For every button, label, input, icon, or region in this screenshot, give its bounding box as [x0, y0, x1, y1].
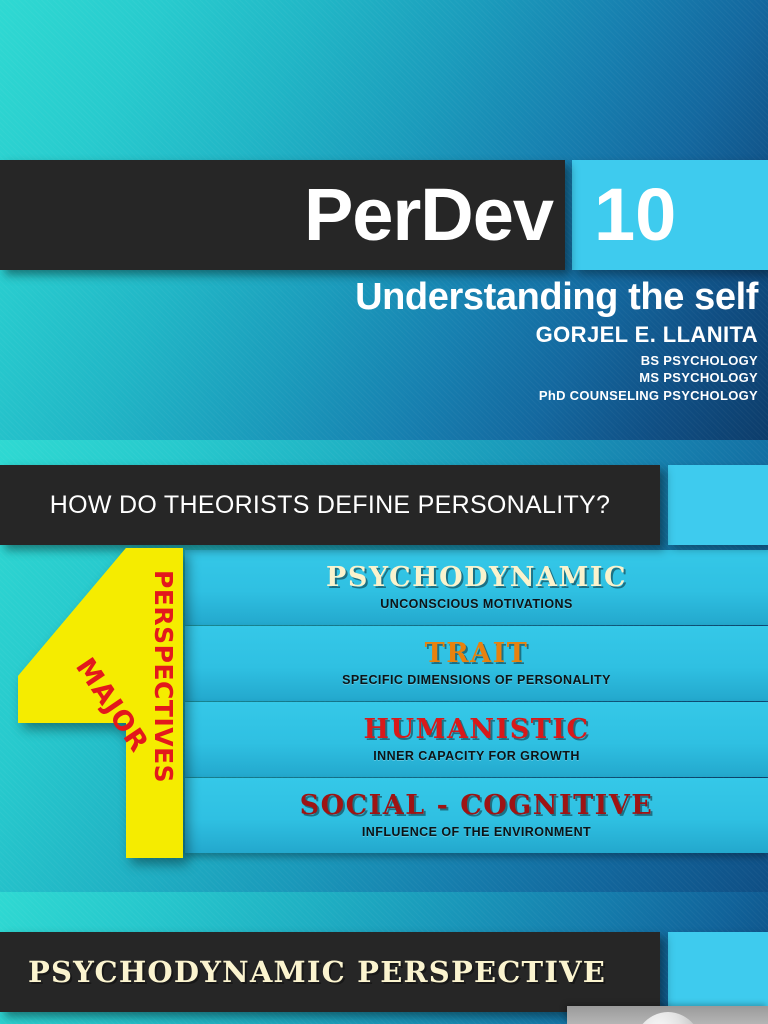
slide-subtitle: Understanding the self: [355, 276, 758, 319]
list-item: TRAIT SPECIFIC DIMENSIONS OF PERSONALITY: [185, 626, 768, 701]
course-number: 10: [594, 178, 676, 252]
big-four-graphic: MAJOR PERSPECTIVES: [18, 548, 218, 858]
question-accent-square: [668, 465, 768, 545]
portrait-head-shape: [631, 1012, 705, 1024]
perspective-subtitle: INNER CAPACITY FOR GROWTH: [373, 749, 580, 763]
numeral-four-icon: MAJOR PERSPECTIVES: [18, 548, 218, 858]
course-number-badge: 10: [572, 160, 768, 270]
question-bar: HOW DO THEORISTS DEFINE PERSONALITY?: [0, 465, 660, 545]
credential-item: BS PSYCHOLOGY: [539, 352, 758, 369]
section-title-bar: PSYCHODYNAMIC PERSPECTIVE: [0, 932, 660, 1012]
title-slide: PerDev 10 Understanding the self GORJEL …: [0, 0, 768, 440]
list-item: HUMANISTIC INNER CAPACITY FOR GROWTH: [185, 702, 768, 777]
perspective-subtitle: INFLUENCE OF THE ENVIRONMENT: [362, 825, 591, 839]
perspective-title: HUMANISTIC: [364, 716, 590, 744]
perspective-title: TRAIT: [425, 640, 529, 668]
list-item: PSYCHODYNAMIC UNCONSCIOUS MOTIVATIONS: [185, 550, 768, 625]
perspectives-slide: HOW DO THEORISTS DEFINE PERSONALITY? PSY…: [0, 440, 768, 892]
list-item: SOCIAL - COGNITIVE INFLUENCE OF THE ENVI…: [185, 778, 768, 853]
author-credentials: BS PSYCHOLOGY MS PSYCHOLOGY PhD COUNSELI…: [539, 352, 758, 404]
perspective-subtitle: UNCONSCIOUS MOTIVATIONS: [380, 597, 573, 611]
perspective-subtitle: SPECIFIC DIMENSIONS OF PERSONALITY: [342, 673, 611, 687]
perspective-title: SOCIAL - COGNITIVE: [300, 792, 654, 820]
section-slide: PSYCHODYNAMIC PERSPECTIVE: [0, 892, 768, 1024]
question-text: HOW DO THEORISTS DEFINE PERSONALITY?: [50, 491, 610, 520]
section-accent-square: [668, 932, 768, 1012]
perspective-title: PSYCHODYNAMIC: [326, 564, 627, 592]
credential-item: MS PSYCHOLOGY: [539, 369, 758, 386]
course-title: PerDev: [304, 178, 553, 252]
course-title-bar: PerDev: [0, 160, 565, 270]
portrait-photo: [567, 1006, 768, 1024]
author-name: GORJEL E. LLANITA: [536, 322, 758, 348]
section-title: PSYCHODYNAMIC PERSPECTIVE: [28, 955, 606, 989]
four-label-perspectives: PERSPECTIVES: [149, 570, 178, 783]
credential-item: PhD COUNSELING PSYCHOLOGY: [539, 387, 758, 404]
